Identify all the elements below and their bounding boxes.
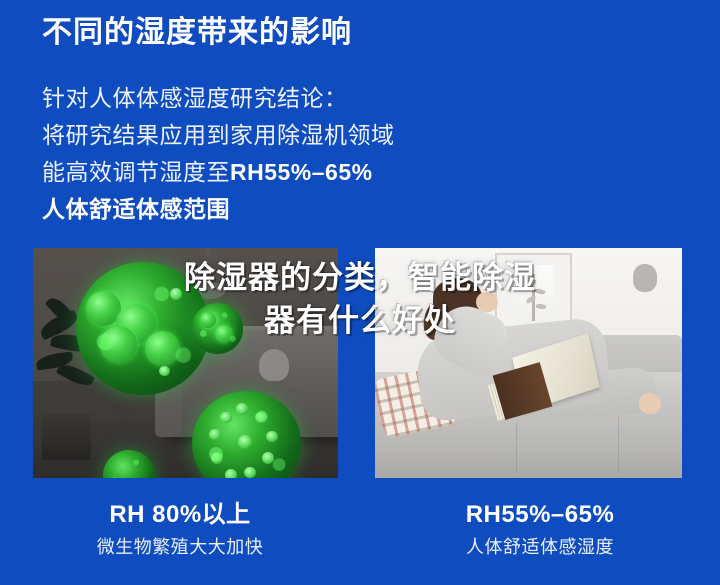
photo-row <box>0 248 720 478</box>
woman-foot <box>639 393 660 414</box>
microbe-cluster-virus <box>192 391 302 478</box>
microbe-cluster-large <box>76 262 210 395</box>
caption-comfort-humidity: RH55%–65% 人体舒适体感湿度 <box>360 498 720 578</box>
caption-title: RH55%–65% <box>360 498 720 532</box>
sofa-cushion <box>259 349 290 381</box>
dark-room-scene <box>33 248 338 478</box>
page-title: 不同的湿度带来的影响 <box>42 14 352 52</box>
body-copy: 针对人体体感湿度研究结论： 将研究结果应用到家用除湿机领域 能高效调节湿度至RH… <box>42 80 602 228</box>
body-line-3-value: RH55%–65% <box>230 159 373 185</box>
woman-hand <box>476 292 497 313</box>
body-line-1: 针对人体体感湿度研究结论： <box>42 80 602 117</box>
photo-comfort-humidity <box>375 248 682 478</box>
microbe-cluster-bottom <box>103 450 155 478</box>
body-line-4: 人体舒适体感范围 <box>42 191 602 228</box>
plant-pot <box>42 414 91 460</box>
wall-speaker <box>633 264 658 292</box>
body-line-2: 将研究结果应用到家用除湿机领域 <box>42 117 602 154</box>
caption-subtitle: 人体舒适体感湿度 <box>360 532 720 562</box>
photo-high-humidity <box>33 248 338 478</box>
caption-subtitle: 微生物繁殖大大加快 <box>0 532 360 562</box>
caption-row: RH 80%以上 微生物繁殖大大加快 RH55%–65% 人体舒适体感湿度 <box>0 498 720 578</box>
body-line-3: 能高效调节湿度至RH55%–65% <box>42 154 602 191</box>
humidity-infographic-poster: 不同的湿度带来的影响 针对人体体感湿度研究结论： 将研究结果应用到家用除湿机领域… <box>0 0 720 585</box>
body-line-3-text: 能高效调节湿度至 <box>42 159 230 185</box>
caption-high-humidity: RH 80%以上 微生物繁殖大大加快 <box>0 498 360 578</box>
caption-title: RH 80%以上 <box>0 498 360 532</box>
light-room-scene <box>375 248 682 478</box>
microbe-cluster-small <box>192 303 244 354</box>
